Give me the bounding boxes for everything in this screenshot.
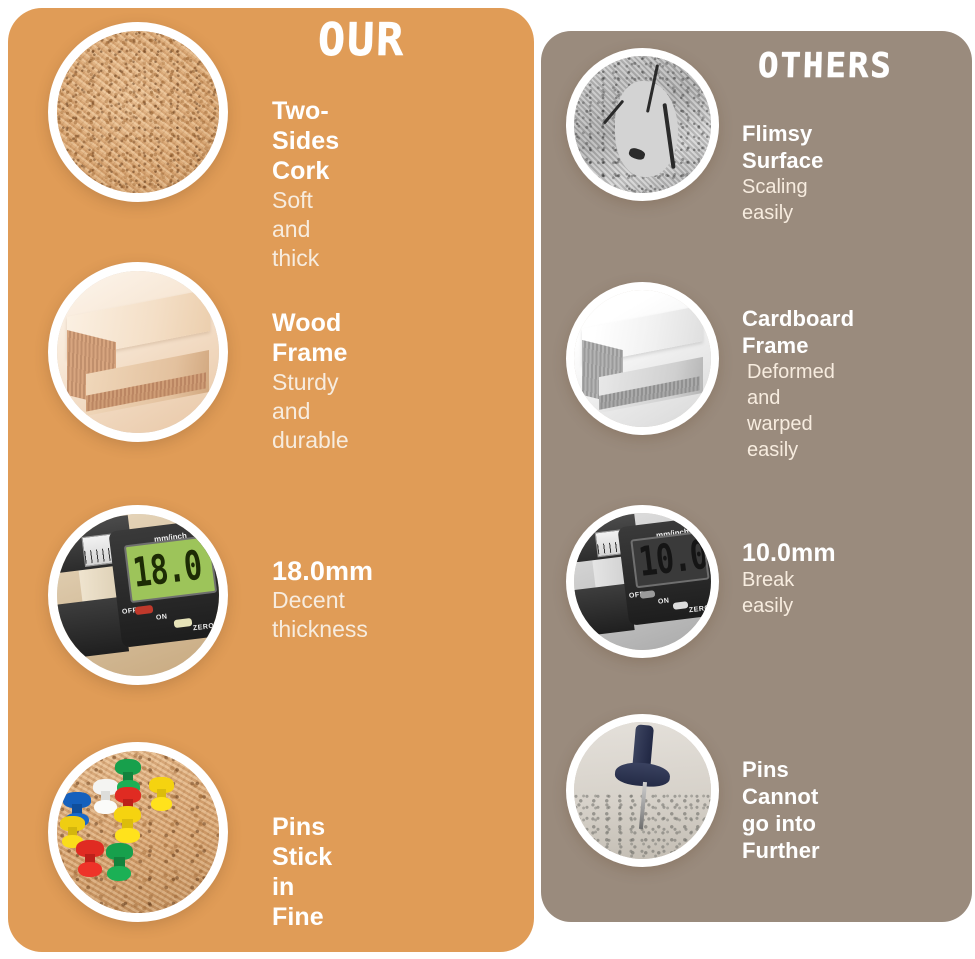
others-row-frame-heading-line2: Frame [742, 332, 854, 359]
cracked-texture [574, 56, 711, 193]
digital-caliper-photo: mm/inch 18.0 OFF ON ZERO [48, 505, 228, 685]
pin-yellow-right [149, 777, 173, 811]
cardboard-frame-texture [574, 290, 711, 427]
our-panel-title: OUR [317, 14, 406, 66]
our-row-wood-subtitle: Sturdy and durable [272, 368, 349, 455]
others-row-frame-subtitle-line1: Deformed and [742, 359, 854, 411]
pin-red-lower [76, 840, 104, 877]
others-panel-title: OTHERS [757, 46, 893, 86]
others-row-frame-subtitle-line2: warped easily [742, 411, 854, 463]
pin-yellow-center [114, 806, 142, 843]
our-row-pins-heading-line1: Pins Stick [272, 812, 332, 872]
hard-surface-texture [574, 722, 711, 859]
others-row-thickness-heading: 10.0mm [742, 540, 836, 567]
others-row-pins-heading-line2: go into Further [742, 810, 820, 864]
digital-caliper-gray-photo: mm/inch 10.0 OFF ON ZERO [566, 505, 719, 658]
pin-green-lower [106, 843, 134, 880]
caliper-reading: 18.0 [130, 542, 203, 597]
pin-on-hard-surface-photo [566, 714, 719, 867]
our-row-wood-heading: Wood Frame [272, 308, 349, 368]
caliper-texture: mm/inch 18.0 OFF ON ZERO [57, 514, 219, 676]
our-row-cork-subtitle: Soft and thick [272, 186, 339, 273]
push-pins-in-cork-photo [48, 742, 228, 922]
others-row-frame-heading-line1: Cardboard [742, 305, 854, 332]
wood-frame-texture [57, 271, 219, 433]
cork-surface-photo [48, 22, 228, 202]
caliper-gray-texture: mm/inch 10.0 OFF ON ZERO [574, 513, 711, 650]
wood-frame-photo [48, 262, 228, 442]
caliper-gray-on-label: ON [657, 597, 669, 605]
caliper-gray-reading: 10.0 [636, 532, 709, 587]
cork-texture [57, 31, 219, 193]
corkboard-texture [57, 751, 219, 913]
others-row-surface-subtitle: Scaling easily [742, 174, 823, 226]
comparison-infographic: OUR Two-Sides Cork Soft and thick [0, 0, 975, 959]
our-row-pins-heading-line2: in Fine [272, 872, 332, 932]
our-row-cork-heading: Two-Sides Cork [272, 96, 339, 186]
others-row-surface-heading: Flimsy Surface [742, 120, 823, 174]
caliper-display: 18.0 [123, 535, 217, 604]
our-row-thickness-subtitle: Decent thickness [272, 586, 373, 644]
others-row-pins-heading-line1: Pins Cannot [742, 756, 820, 810]
cardboard-frame-photo [566, 282, 719, 435]
others-row-thickness-subtitle: Break easily [742, 567, 836, 619]
caliper-gray-display: 10.0 [630, 531, 709, 589]
cracked-surface-photo [566, 48, 719, 201]
our-row-thickness-heading: 18.0mm [272, 556, 373, 586]
